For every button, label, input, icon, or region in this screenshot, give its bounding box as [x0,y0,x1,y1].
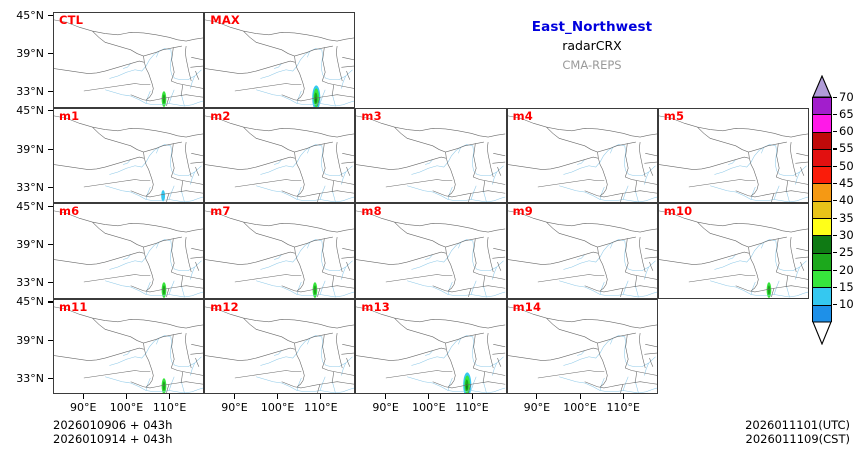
y-tick-label: 45°N [0,201,44,212]
map-layer [659,109,808,203]
colorbar-label-50: 50 [839,161,854,172]
panel-label: m7 [210,205,230,218]
colorbar-swatch-20 [813,271,831,288]
colorbar-label-25: 25 [839,247,854,258]
map-panel-m1[interactable]: m1 [53,108,204,204]
colorbar-swatch-15 [813,288,831,305]
colorbar-tick [833,304,837,305]
panel-label: m2 [210,110,230,123]
panel-label: m12 [210,301,239,314]
panel-grid: CTLMAXm1m2m3m4m5m6m7m8m9m10m11m12m13m14 [53,12,808,394]
y-tick-mark [48,378,53,379]
y-tick-mark [48,206,53,207]
panel-label: m9 [513,205,533,218]
colorbar-tick [833,235,837,236]
y-tick-label: 45°N [0,10,44,21]
colorbar-tick [833,97,837,98]
map-panel-m3[interactable]: m3 [355,108,506,204]
map-layer [54,300,203,394]
colorbar-tick [833,270,837,271]
y-tick-label: 33°N [0,86,44,97]
map-layer [205,300,354,394]
colorbar-tick [833,114,837,115]
colorbar-label-70: 70 [839,92,854,103]
y-tick-label: 39°N [0,239,44,250]
map-panel-m2[interactable]: m2 [204,108,355,204]
map-panel-m10[interactable]: m10 [658,203,809,299]
y-tick-mark [48,91,53,92]
colorbar-swatch-60 [813,133,831,150]
panel-label: m6 [59,205,79,218]
x-tick-mark [83,394,84,399]
y-tick-mark [48,149,53,150]
x-tick-label: 110°E [293,402,349,413]
x-tick-mark [169,394,170,399]
y-tick-label: 45°N [0,105,44,116]
map-layer [356,109,505,203]
colorbar-swatches [812,97,832,322]
map-panel-m6[interactable]: m6 [53,203,204,299]
x-tick-mark [580,394,581,399]
y-tick-mark [48,282,53,283]
valid-time-cst: 2026011109(CST) [745,433,850,447]
colorbar-swatch-45 [813,184,831,201]
map-layer [659,204,808,298]
colorbar-tick [833,166,837,167]
colorbar-over-arrow-icon [812,75,832,98]
x-tick-mark [472,394,473,399]
colorbar-label-65: 65 [839,109,854,120]
map-layer [205,13,354,107]
panel-label: m11 [59,301,88,314]
colorbar-under-arrow-icon [812,321,832,345]
map-panel-m14[interactable]: m14 [507,299,658,395]
panel-label: MAX [210,14,240,27]
map-layer [205,204,354,298]
y-tick-label: 39°N [0,48,44,59]
colorbar-swatch-40 [813,202,831,219]
y-tick-label: 39°N [0,144,44,155]
colorbar-tick [833,148,837,149]
panel-label: m13 [361,301,390,314]
colorbar-label-15: 15 [839,282,854,293]
map-layer [356,204,505,298]
colorbar-swatch-25 [813,254,831,271]
x-tick-mark [536,394,537,399]
valid-time-utc: 2026011101(UTC) [745,419,850,433]
y-tick-mark [48,187,53,188]
map-panel-m12[interactable]: m12 [204,299,355,395]
map-panel-m13[interactable]: m13 [355,299,506,395]
panel-label: m3 [361,110,381,123]
footer-right: 2026011101(UTC) 2026011109(CST) [745,419,850,446]
init-time-utc-line: 2026010906 + 043h [53,419,172,433]
y-tick-mark [48,15,53,16]
colorbar-label-20: 20 [839,265,854,276]
map-layer [54,204,203,298]
colorbar-swatch-50 [813,167,831,184]
colorbar-label-55: 55 [839,143,854,154]
colorbar-label-10: 10 [839,299,854,310]
x-tick-mark [428,394,429,399]
panel-label: m1 [59,110,79,123]
map-layer [205,109,354,203]
y-tick-mark [48,244,53,245]
x-tick-label: 110°E [595,402,651,413]
figure-root: East_Northwest radarCRX CMA-REPS CTLMAXm… [0,0,860,456]
colorbar-label-40: 40 [839,195,854,206]
colorbar-tick [833,200,837,201]
y-tick-label: 45°N [0,296,44,307]
colorbar-label-35: 35 [839,213,854,224]
x-tick-mark [126,394,127,399]
map-panel-m8[interactable]: m8 [355,203,506,299]
y-tick-label: 39°N [0,335,44,346]
colorbar-label-45: 45 [839,178,854,189]
x-tick-mark [277,394,278,399]
y-tick-mark [48,301,53,302]
x-tick-mark [623,394,624,399]
y-tick-label: 33°N [0,373,44,384]
map-layer [356,300,505,394]
x-tick-label: 110°E [142,402,198,413]
map-panel-m7[interactable]: m7 [204,203,355,299]
map-panel-m5[interactable]: m5 [658,108,809,204]
colorbar-swatch-55 [813,150,831,167]
panel-label: m4 [513,110,533,123]
map-panel-ctl[interactable]: CTL [53,12,204,108]
panel-label: m5 [664,110,684,123]
map-panel-m4[interactable]: m4 [507,108,658,204]
colorbar-tick [833,131,837,132]
y-tick-mark [48,53,53,54]
colorbar-tick [833,287,837,288]
colorbar: 10152025303540455055606570 [811,76,833,344]
map-panel-m9[interactable]: m9 [507,203,658,299]
colorbar-tick [833,183,837,184]
colorbar-swatch-65 [813,115,831,132]
map-layer [54,109,203,203]
map-layer [508,204,657,298]
colorbar-tick [833,218,837,219]
map-layer [508,109,657,203]
colorbar-swatch-30 [813,236,831,253]
x-tick-mark [385,394,386,399]
y-tick-mark [48,340,53,341]
map-panel-max[interactable]: MAX [204,12,355,108]
map-layer [508,300,657,394]
panel-label: CTL [59,14,83,27]
y-tick-mark [48,110,53,111]
x-tick-mark [234,394,235,399]
colorbar-tick [833,252,837,253]
x-tick-mark [320,394,321,399]
panel-label: m14 [513,301,542,314]
y-tick-label: 33°N [0,182,44,193]
panel-label: m8 [361,205,381,218]
map-panel-m11[interactable]: m11 [53,299,204,395]
x-tick-label: 110°E [444,402,500,413]
map-layer [54,13,203,107]
colorbar-swatch-35 [813,219,831,236]
panel-label: m10 [664,205,693,218]
footer-left: 2026010906 + 043h 2026010914 + 043h [53,419,172,446]
colorbar-swatch-70 [813,98,831,115]
colorbar-label-60: 60 [839,126,854,137]
init-time-cst-line: 2026010914 + 043h [53,433,172,447]
y-tick-label: 33°N [0,277,44,288]
colorbar-label-30: 30 [839,230,854,241]
